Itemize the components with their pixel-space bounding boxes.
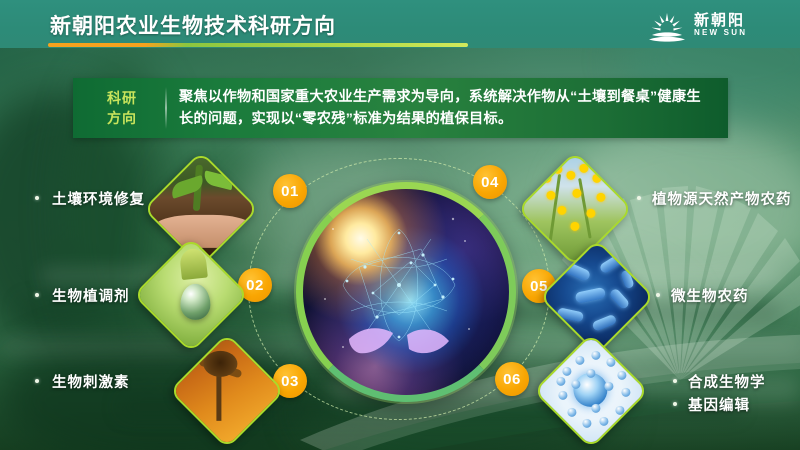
flower-dot bbox=[586, 209, 595, 218]
banner-divider bbox=[165, 87, 167, 129]
nucleus-shape bbox=[574, 374, 608, 408]
molecule-dot bbox=[591, 352, 600, 361]
banner-tag: 科研 方向 bbox=[89, 88, 155, 128]
brand-logo: 新朝阳 NEW SUN bbox=[646, 8, 786, 44]
molecule-dot bbox=[600, 417, 609, 426]
flower-dot bbox=[558, 207, 567, 216]
title-underline bbox=[48, 43, 468, 47]
step-badge-04[interactable]: 04 bbox=[473, 165, 507, 199]
banner-body-text: 聚焦以作物和国家重大农业生产需求为导向，系统解决作物从“土壤到餐桌”健康生长的问… bbox=[179, 86, 714, 130]
molecule-dot bbox=[556, 378, 565, 387]
list-item-soil-remediation[interactable]: 土壤环境修复 bbox=[52, 188, 145, 209]
slide-canvas: 新朝阳农业生物技术科研方向 新朝阳 NEW SUN 科研 方向 聚焦以作物和国 bbox=[0, 0, 800, 450]
list-bullet bbox=[35, 196, 39, 200]
flower-dot bbox=[579, 164, 588, 173]
logo-name-cn: 新朝阳 bbox=[694, 9, 745, 30]
central-globe-image bbox=[296, 182, 516, 402]
list-bullet bbox=[35, 379, 39, 383]
molecule-dot bbox=[604, 382, 613, 391]
list-item-gene-editing[interactable]: 基因编辑 bbox=[688, 394, 750, 415]
molecule-dot bbox=[591, 404, 600, 413]
step-badge-06[interactable]: 06 bbox=[495, 362, 529, 396]
flower-dot bbox=[571, 222, 580, 231]
molecule-dot bbox=[617, 371, 626, 380]
molecule-dot bbox=[576, 356, 585, 365]
molecule-dot bbox=[606, 358, 615, 367]
list-bullet bbox=[673, 402, 677, 406]
molecule-dot bbox=[558, 391, 567, 400]
banner-tag-line1: 科研 bbox=[89, 88, 155, 108]
flower-dot bbox=[566, 172, 575, 181]
list-item-botanical-pesticide[interactable]: 植物源天然产物农药 bbox=[652, 188, 792, 209]
flower-dot bbox=[592, 174, 601, 183]
flower-dot bbox=[597, 194, 606, 203]
list-item-synthetic-biology[interactable]: 合成生物学 bbox=[688, 371, 766, 392]
list-bullet bbox=[35, 293, 39, 297]
research-direction-banner: 科研 方向 聚焦以作物和国家重大农业生产需求为导向，系统解决作物从“土壤到餐桌”… bbox=[73, 78, 728, 138]
step-badge-01[interactable]: 01 bbox=[273, 174, 307, 208]
molecule-dot bbox=[582, 419, 591, 428]
molecule-dot bbox=[567, 408, 576, 417]
list-bullet bbox=[637, 196, 641, 200]
leaf-funnel-shape bbox=[179, 248, 208, 281]
banner-tag-line2: 方向 bbox=[89, 108, 155, 128]
list-bullet bbox=[656, 293, 660, 297]
list-item-biostimulant[interactable]: 生物刺激素 bbox=[52, 371, 130, 392]
water-drop-shape bbox=[180, 284, 210, 320]
sunrise-icon bbox=[646, 8, 688, 44]
molecule-dot bbox=[622, 389, 631, 398]
bacterium-rod bbox=[608, 288, 630, 311]
bacterium-rod bbox=[574, 287, 606, 304]
bacterium-rod bbox=[592, 315, 618, 333]
molecule-dot bbox=[563, 367, 572, 376]
network-mesh-icon bbox=[303, 189, 495, 381]
logo-name-en: NEW SUN bbox=[694, 28, 747, 37]
list-item-bio-plant-regulator[interactable]: 生物植调剂 bbox=[52, 285, 130, 306]
list-bullet bbox=[673, 379, 677, 383]
molecule-dot bbox=[615, 406, 624, 415]
list-item-microbial-pesticide[interactable]: 微生物农药 bbox=[671, 285, 749, 306]
page-title: 新朝阳农业生物技术科研方向 bbox=[50, 10, 336, 40]
